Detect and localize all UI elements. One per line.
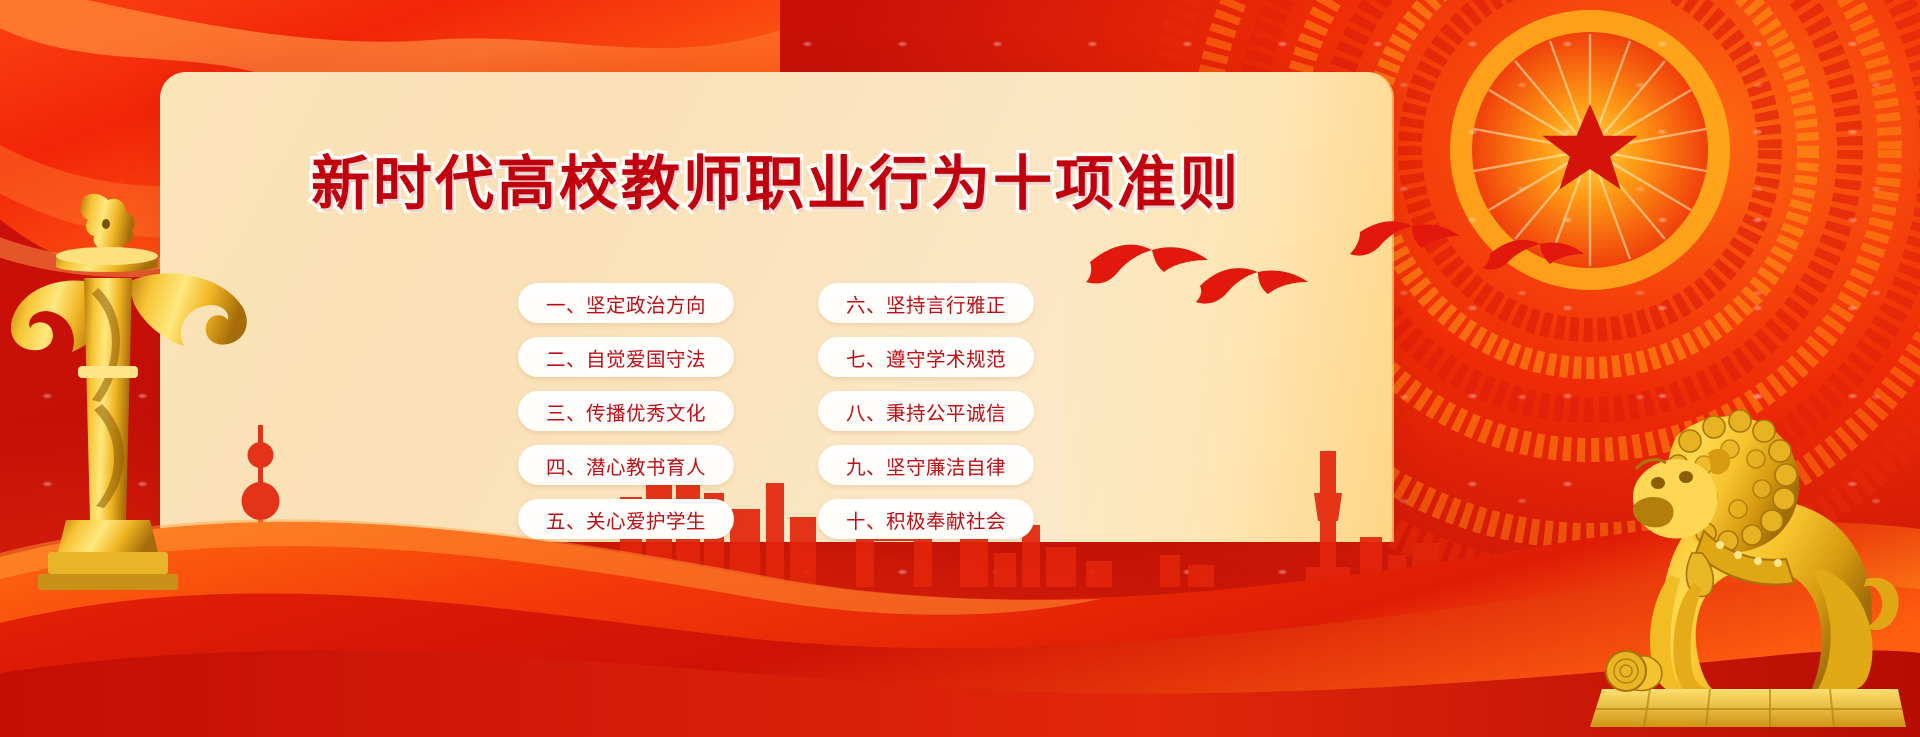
principle-item-1[interactable]: 一、坚定政治方向	[518, 283, 734, 323]
principle-item-9[interactable]: 九、坚守廉洁自律	[818, 445, 1034, 485]
five-point-star	[1542, 104, 1638, 189]
principle-item-5[interactable]: 五、关心爱护学生	[518, 499, 734, 539]
principles-column-right: 六、坚持言行雅正 七、遵守学术规范 八、秉持公平诚信 九、坚守廉洁自律 十、积极…	[818, 283, 1034, 539]
principle-item-3[interactable]: 三、传播优秀文化	[518, 391, 734, 431]
golden-guardian-lion	[1580, 317, 1910, 737]
banner-poster: 新时代高校教师职业行为十项准则 一、坚定政治方向 二、自觉爱国守法 三、传播优秀…	[0, 0, 1920, 737]
principle-item-2[interactable]: 二、自觉爱国守法	[518, 337, 734, 377]
principle-item-10[interactable]: 十、积极奉献社会	[818, 499, 1034, 539]
principle-item-4[interactable]: 四、潜心教书育人	[518, 445, 734, 485]
principles-grid: 一、坚定政治方向 二、自觉爱国守法 三、传播优秀文化 四、潜心教书育人 五、关心…	[160, 283, 1392, 539]
principles-column-left: 一、坚定政治方向 二、自觉爱国守法 三、传播优秀文化 四、潜心教书育人 五、关心…	[518, 283, 734, 539]
page-title: 新时代高校教师职业行为十项准则	[311, 136, 1241, 221]
page-title-wrap: 新时代高校教师职业行为十项准则	[160, 136, 1392, 221]
principle-item-6[interactable]: 六、坚持言行雅正	[818, 283, 1034, 323]
principle-item-7[interactable]: 七、遵守学术规范	[818, 337, 1034, 377]
principle-item-8[interactable]: 八、秉持公平诚信	[818, 391, 1034, 431]
